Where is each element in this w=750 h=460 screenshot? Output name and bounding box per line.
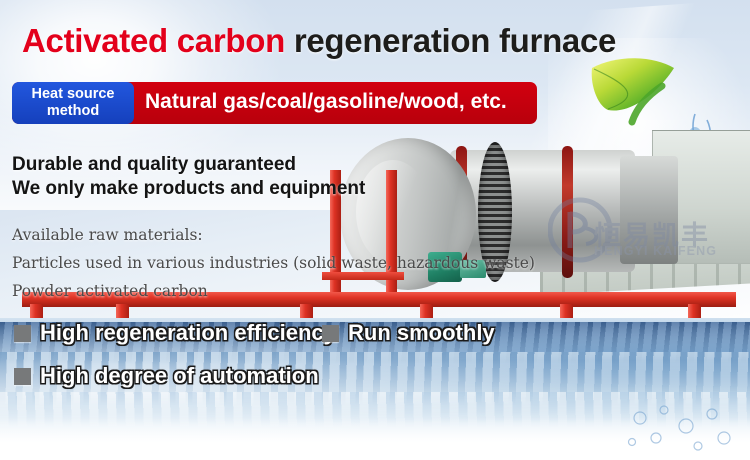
frame-cross-rail-top xyxy=(322,272,404,280)
title-rest: regeneration furnace xyxy=(285,22,616,59)
heat-source-badge-line1: Heat source xyxy=(12,86,134,103)
heat-source-badge: Heat source method xyxy=(12,82,134,124)
feature-label-3: High degree of automation xyxy=(40,363,319,389)
bullet-square-icon xyxy=(14,368,31,385)
bullet-square-icon xyxy=(14,325,31,342)
raw-materials-line-3: Powder activated carbon xyxy=(12,282,208,300)
feature-item-1: High regeneration efficiency xyxy=(14,320,336,346)
promo-banner: 恒易凯丰 HENGYI KAIFENG Activat xyxy=(0,0,750,460)
water-bubbles xyxy=(620,400,740,455)
lead-line-1: Durable and quality guaranteed xyxy=(12,154,296,176)
feature-label-1: High regeneration efficiency xyxy=(40,320,336,346)
feature-item-3: High degree of automation xyxy=(14,363,319,389)
feature-label-2: Run smoothly xyxy=(348,320,495,346)
company-watermark-logo: 恒易凯丰 HENGYI KAIFENG xyxy=(548,190,748,290)
heat-source-badge-line2: method xyxy=(12,103,134,120)
lead-line-2: We only make products and equipment xyxy=(12,178,365,200)
frame-deck-shadow xyxy=(22,300,736,307)
heat-source-value: Natural gas/coal/gasoline/wood, etc. xyxy=(145,90,507,114)
bullet-square-icon xyxy=(322,325,339,342)
raw-materials-line-2: Particles used in various industries (so… xyxy=(12,254,535,272)
banner-title: Activated carbon regeneration furnace xyxy=(22,24,616,57)
feature-item-2: Run smoothly xyxy=(322,320,495,346)
title-highlight: Activated carbon xyxy=(22,22,285,59)
watermark-english-text: HENGYI KAIFENG xyxy=(594,244,717,258)
raw-materials-line-1: Available raw materials: xyxy=(12,226,203,244)
